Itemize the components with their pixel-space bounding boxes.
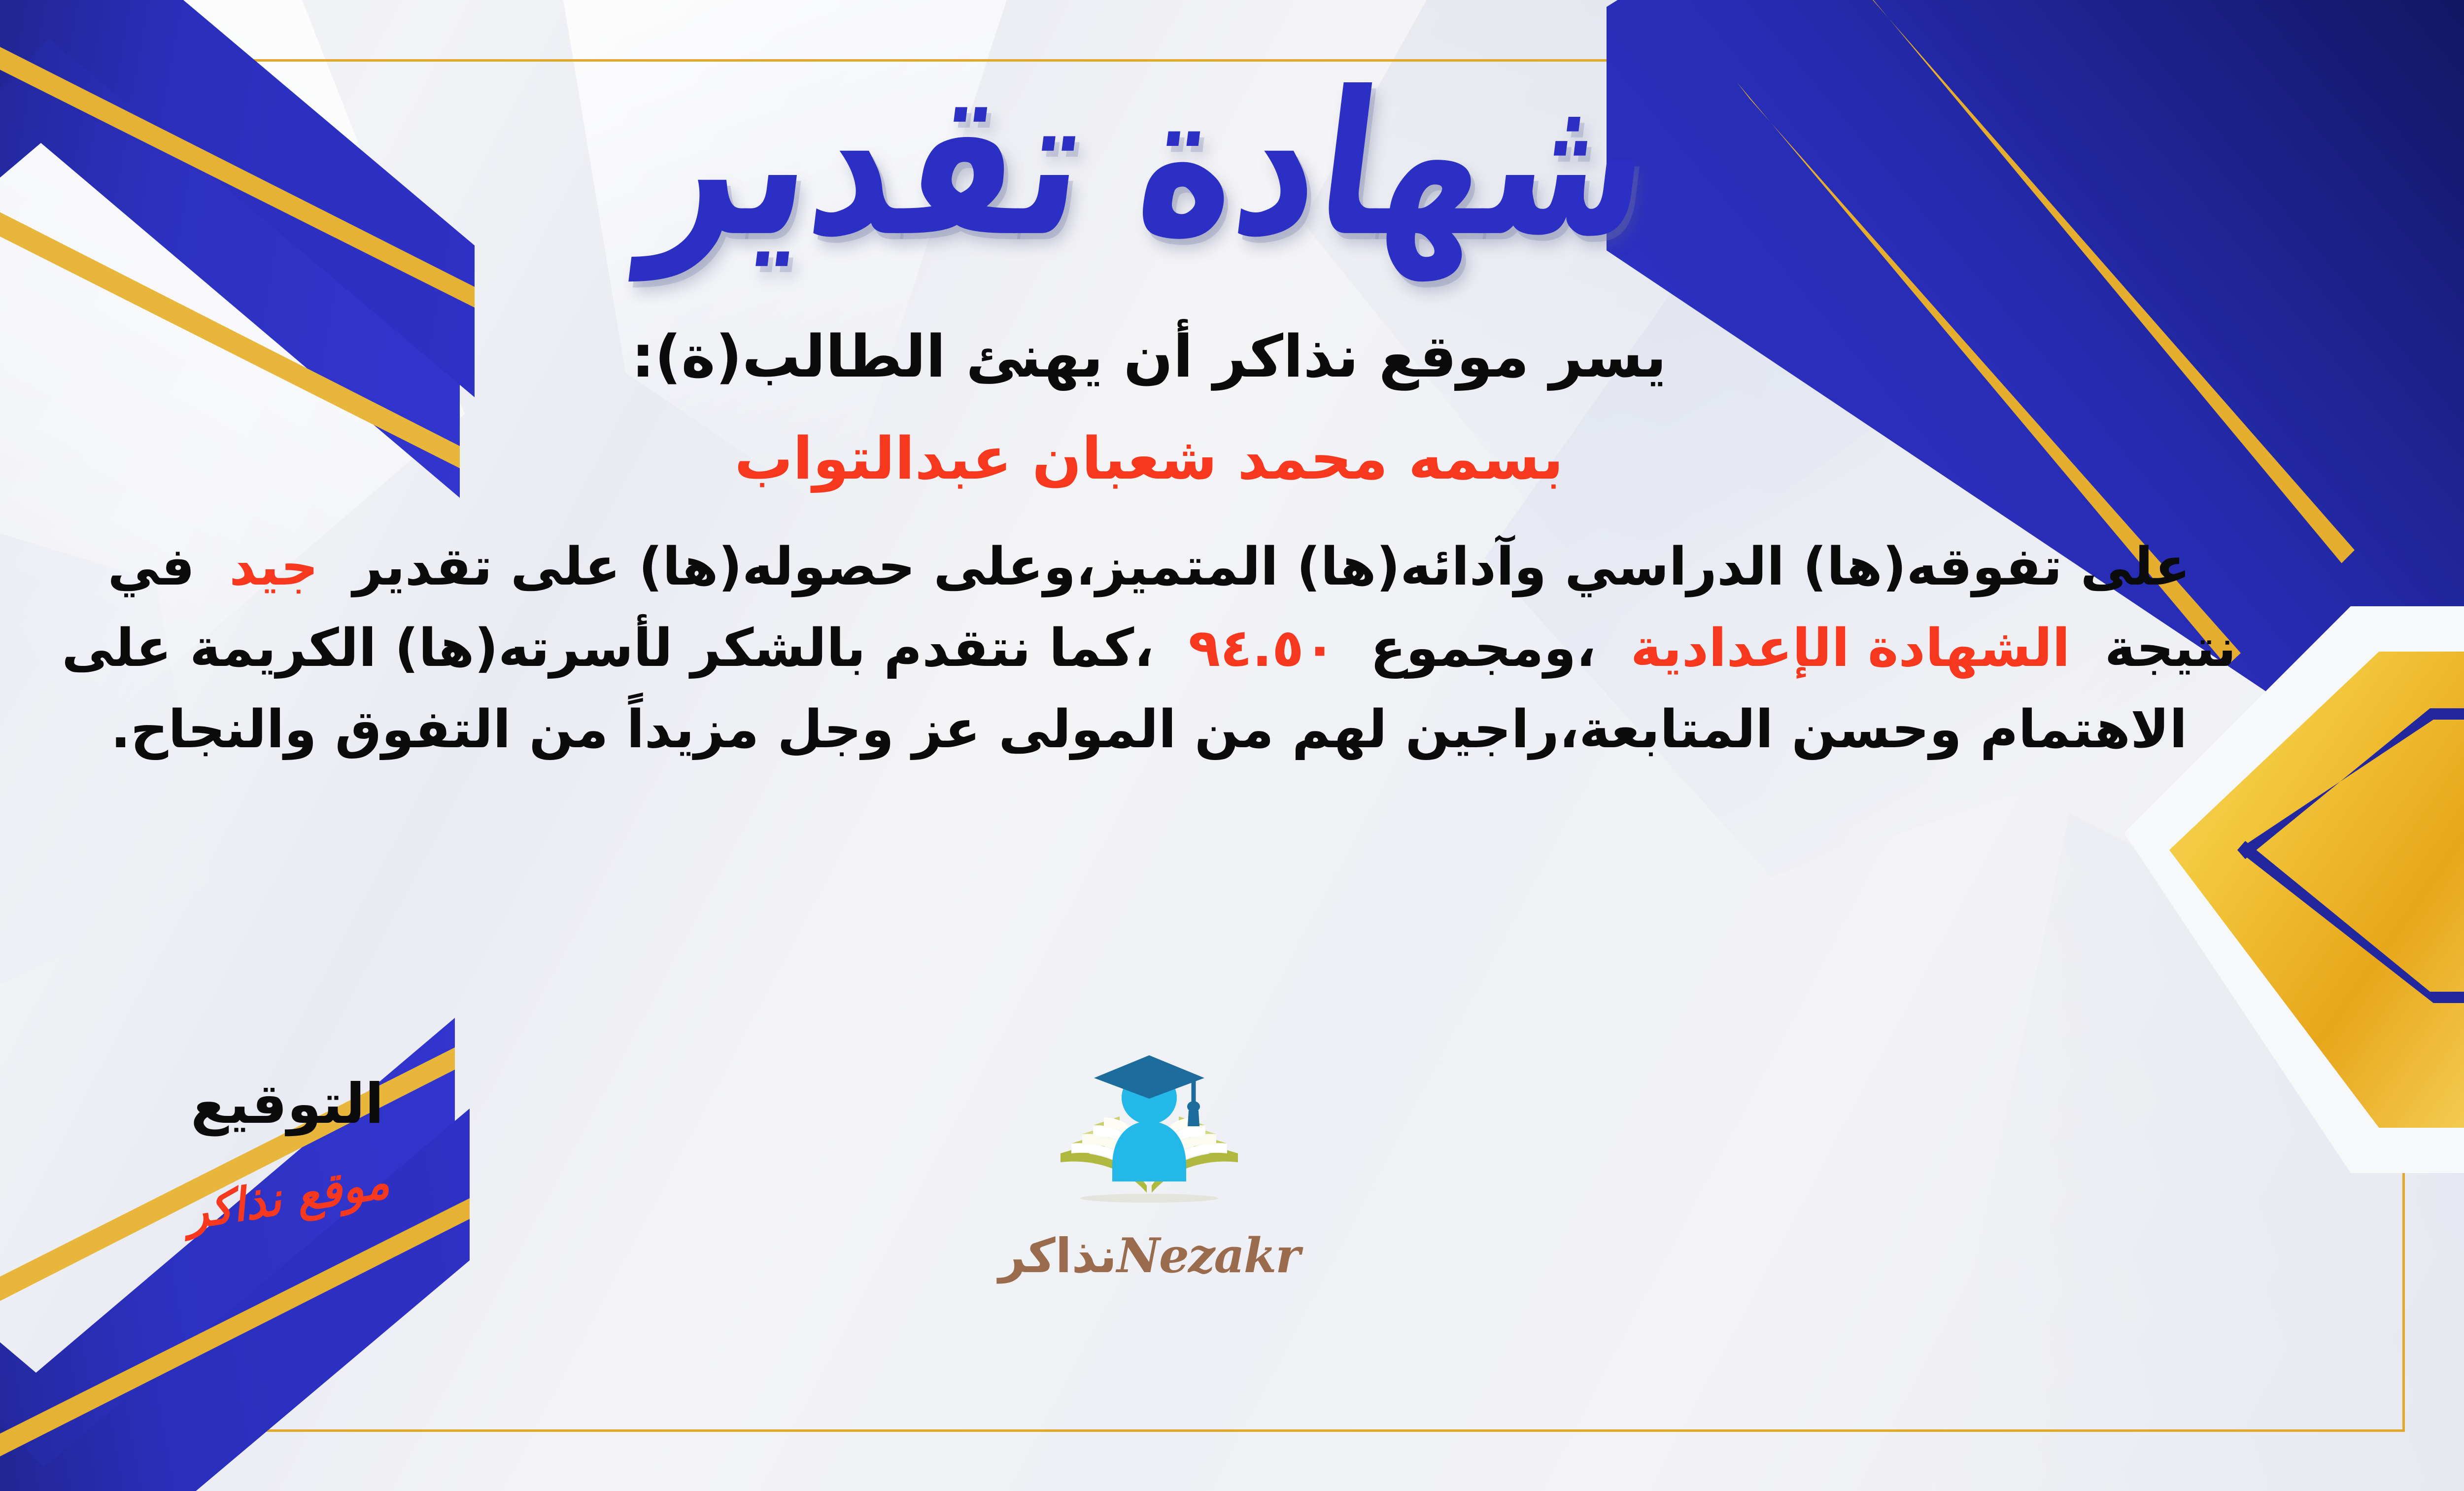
brand-name-latin: Nezakr [1117,1228,1300,1283]
achievement-paragraph: على تفوقه(ها) الدراسي وآدائه(ها) المتميز… [26,526,2273,770]
achievement-text-segment-3: ،ومجموع [1370,618,1596,678]
graduate-open-book-icon [1046,1052,1253,1225]
total-score: ٩٤.٥٠ [1189,618,1336,678]
signature-handwritten-mark: موقع نذاكر [98,1142,477,1253]
grade-value: جيد [229,536,318,597]
brand-logo-wordmark: Nezakrنذاكر [962,1228,1336,1283]
certificate-title: شهادة تقدير [636,54,1662,276]
signature-label: التوقيع [100,1072,475,1136]
brand-name-arabic: نذاكر [998,1228,1117,1283]
certificate-body: يسر موقع نذاكر أن يهنئ الطالب(ة): بسمه م… [26,315,2273,770]
signature-block: التوقيع موقع نذاكر [100,1072,475,1224]
brand-logo-block: Nezakrنذاكر [962,1052,1336,1283]
achievement-text-segment-1: على تفوقه(ها) الدراسي وآدائه(ها) المتميز… [353,536,2190,597]
student-name: بسمه محمد شعبان عبدالتواب [26,417,2273,500]
congratulation-lead-line: يسر موقع نذاكر أن يهنئ الطالب(ة): [26,315,2273,398]
certificate-footer: التوقيع موقع نذاكر [0,1052,2464,1407]
exam-name: الشهادة الإعدادية [1631,618,2070,678]
certificate-canvas: شهادة تقدير يسر موقع نذاكر أن يهنئ الطال… [0,0,2464,1491]
